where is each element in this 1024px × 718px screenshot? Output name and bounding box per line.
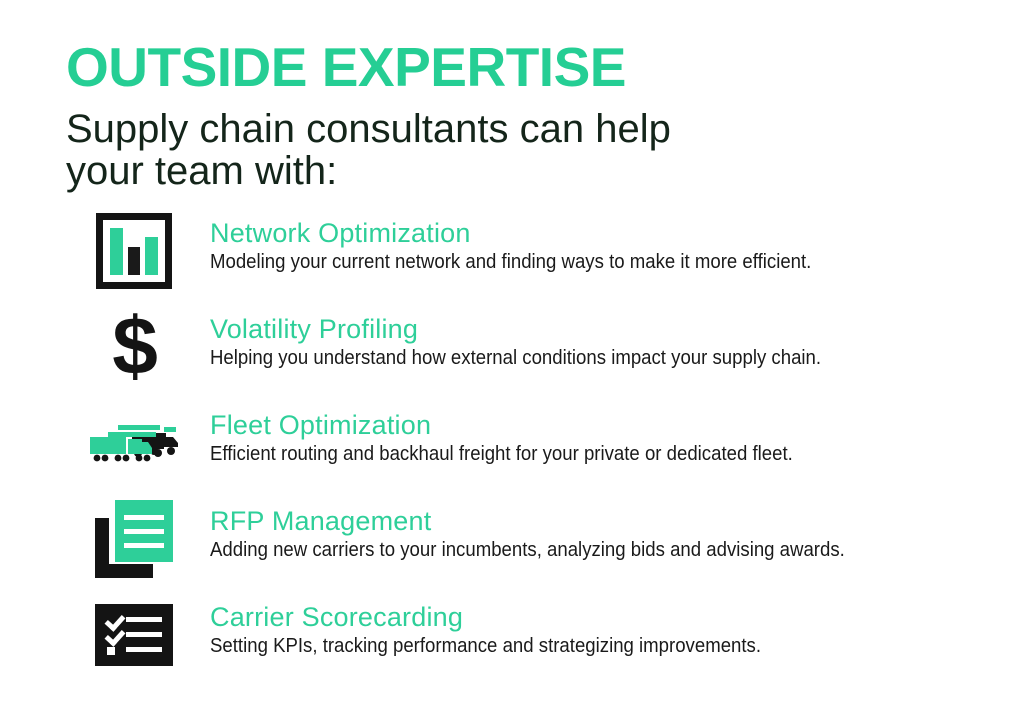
services-list: Network Optimization Modeling your curre… [0, 206, 1024, 686]
list-item-title: Fleet Optimization [210, 410, 1000, 440]
list-item-description: Modeling your current network and findin… [210, 250, 945, 274]
list-item-title: Volatility Profiling [210, 314, 1000, 344]
list-item-description: Efficient routing and backhaul freight f… [210, 442, 945, 466]
list-item-description: Helping you understand how external cond… [210, 346, 945, 370]
bar-chart-icon [84, 206, 184, 296]
list-item: RFP Management Adding new carriers to yo… [0, 494, 1024, 590]
infographic-page: OUTSIDE EXPERTISE Supply chain consultan… [0, 0, 1024, 718]
list-item-title: Carrier Scorecarding [210, 602, 1000, 632]
page-subtitle-line-2: your team with: [66, 150, 866, 192]
dollar-sign-glyph: $ [112, 312, 156, 382]
page-title: OUTSIDE EXPERTISE [66, 38, 966, 96]
list-item: Network Optimization Modeling your curre… [0, 206, 1024, 302]
list-item: $ Volatility Profiling Helping you under… [0, 302, 1024, 398]
dollar-sign-icon: $ [84, 302, 184, 392]
truck-fleet-icon [84, 398, 184, 488]
page-subtitle-line-1: Supply chain consultants can help [66, 108, 866, 150]
list-item-description: Setting KPIs, tracking performance and s… [210, 634, 945, 658]
list-item-text: Network Optimization Modeling your curre… [210, 218, 1000, 274]
list-item-title: Network Optimization [210, 218, 1000, 248]
header: OUTSIDE EXPERTISE Supply chain consultan… [66, 38, 966, 192]
list-item-title: RFP Management [210, 506, 1000, 536]
checklist-icon [84, 590, 184, 680]
page-subtitle: Supply chain consultants can help your t… [66, 108, 866, 192]
list-item: Carrier Scorecarding Setting KPIs, track… [0, 590, 1024, 686]
list-item-text: Fleet Optimization Efficient routing and… [210, 410, 1000, 466]
list-item-text: Volatility Profiling Helping you underst… [210, 314, 1000, 370]
list-item-description: Adding new carriers to your incumbents, … [210, 538, 945, 562]
list-item: Fleet Optimization Efficient routing and… [0, 398, 1024, 494]
documents-icon [84, 494, 184, 584]
list-item-text: RFP Management Adding new carriers to yo… [210, 506, 1000, 562]
list-item-text: Carrier Scorecarding Setting KPIs, track… [210, 602, 1000, 658]
